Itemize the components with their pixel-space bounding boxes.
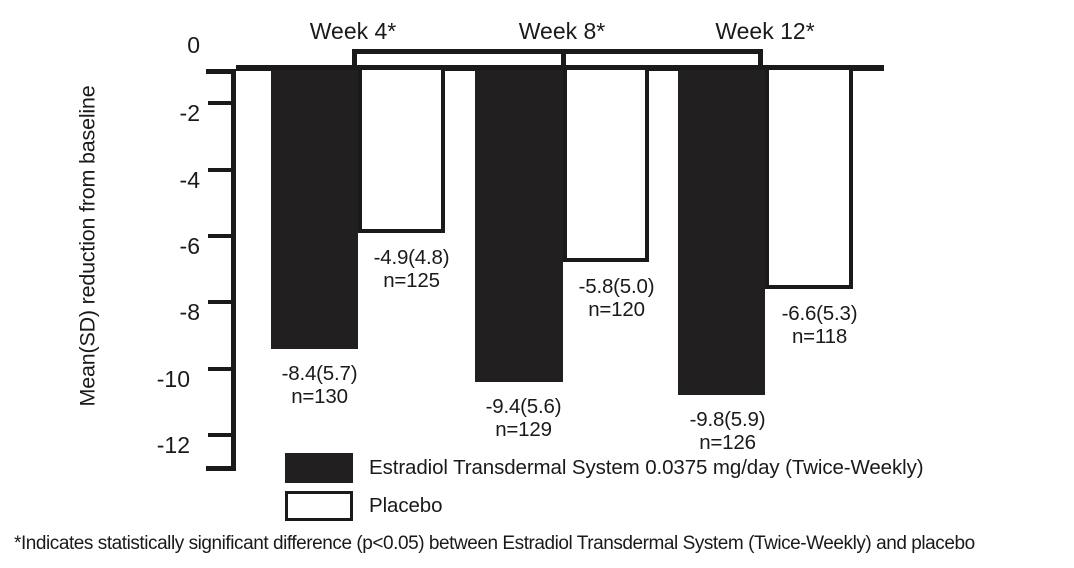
week-bracket-line [352, 49, 763, 54]
group-header-week-4: Week 4* [243, 18, 463, 45]
y-axis-label-m8: -8 [140, 301, 200, 324]
week-bracket-tick-2 [561, 49, 566, 66]
bar-placebo-week-4[interactable] [358, 70, 445, 233]
bar-label-treatment-week-12: -9.8(5.9) n=126 [650, 409, 805, 455]
legend-swatch-treatment [285, 453, 353, 483]
y-axis-tick-minor-9 [208, 367, 232, 371]
y-axis-cap-top [206, 69, 236, 74]
y-axis-cap-bottom [206, 466, 236, 471]
bar-label-placebo-week-8: -5.8(5.0) n=120 [539, 276, 694, 322]
y-axis-tick-minor-11 [208, 433, 232, 437]
legend-swatch-placebo [285, 491, 353, 521]
y-axis-title: Mean(SD) reduction from baseline [76, 107, 101, 407]
y-axis-label-m6: -6 [140, 235, 200, 258]
bar-label-treatment-week-4: -8.4(5.7) n=130 [242, 363, 397, 409]
y-axis-label-m4: -4 [140, 169, 200, 192]
y-axis-label-m2: -2 [140, 102, 200, 125]
bar-label-placebo-week-4: -4.9(4.8) n=125 [334, 247, 489, 293]
bar-treatment-week-8[interactable] [475, 70, 563, 382]
y-axis-tick-minor-3 [208, 168, 232, 172]
y-axis-tick-minor-5 [208, 234, 232, 238]
group-header-week-12: Week 12* [655, 18, 875, 45]
y-axis-label-0: 0 [140, 34, 200, 57]
bar-placebo-week-8[interactable] [563, 70, 649, 262]
legend-label-treatment: Estradiol Transdermal System 0.0375 mg/d… [369, 456, 923, 480]
bar-label-treatment-week-8: -9.4(5.6) n=129 [446, 396, 601, 442]
week-bracket-tick-1 [352, 49, 357, 66]
chart-footnote: *Indicates statistically significant dif… [14, 533, 1064, 555]
week-bracket-tick-3 [758, 49, 763, 66]
legend-label-placebo: Placebo [369, 494, 442, 518]
bar-placebo-week-12[interactable] [765, 70, 853, 289]
y-axis-tick-minor-7 [208, 300, 232, 304]
group-header-week-8: Week 8* [452, 18, 672, 45]
y-axis-tick-minor-1 [208, 101, 232, 105]
y-axis-label-m12: -12 [130, 434, 190, 457]
figure-canvas: Week 4* Week 8* Week 12* Mean(SD) reduct… [0, 0, 1074, 568]
y-axis-label-m10: -10 [130, 368, 190, 391]
bar-treatment-week-4[interactable] [271, 70, 358, 349]
bar-label-placebo-week-12: -6.6(5.3) n=118 [742, 303, 897, 349]
